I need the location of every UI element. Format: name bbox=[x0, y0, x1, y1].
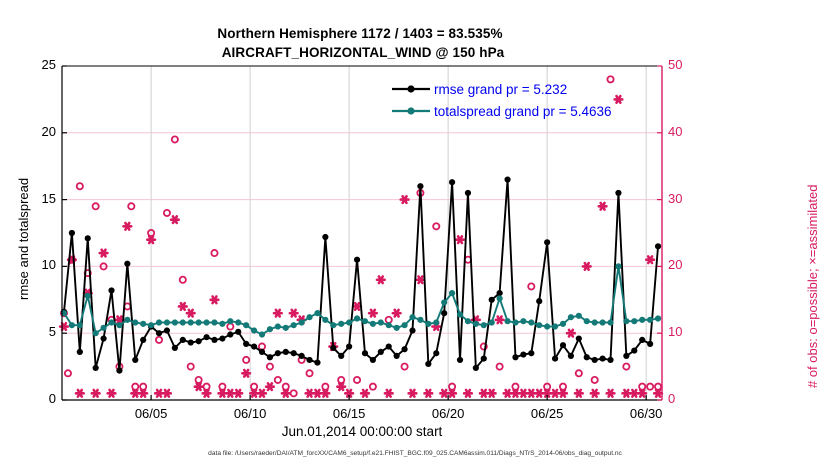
obs-assimilated-marker bbox=[456, 236, 464, 243]
obs-assimilated-marker bbox=[369, 310, 377, 317]
series-point-rmse bbox=[497, 290, 503, 296]
obs-assimilated-marker bbox=[124, 223, 132, 230]
series-point-rmse bbox=[267, 354, 273, 360]
obs-assimilated-marker bbox=[322, 390, 330, 397]
series-point-rmse bbox=[607, 357, 613, 363]
series-point-totalspread bbox=[251, 327, 257, 333]
series-point-rmse bbox=[156, 330, 162, 336]
obs-assimilated-marker bbox=[155, 390, 163, 397]
series-point-rmse bbox=[203, 334, 209, 340]
series-point-totalspread bbox=[576, 313, 582, 319]
obs-assimilated-marker bbox=[290, 310, 298, 317]
obs-possible-marker bbox=[291, 390, 297, 396]
series-point-totalspread bbox=[243, 322, 249, 328]
obs-assimilated-marker bbox=[139, 390, 147, 397]
series-point-totalspread bbox=[77, 322, 83, 328]
obs-assimilated-marker bbox=[599, 203, 607, 210]
obs-possible-marker bbox=[623, 364, 629, 370]
series-point-rmse bbox=[108, 287, 114, 293]
series-point-totalspread bbox=[544, 323, 550, 329]
series-point-totalspread bbox=[520, 318, 526, 324]
ytick-label-left-15: 15 bbox=[16, 191, 56, 206]
series-point-rmse bbox=[172, 345, 178, 351]
series-point-rmse bbox=[481, 355, 487, 361]
ytick-label-left-10: 10 bbox=[16, 257, 56, 272]
series-point-rmse bbox=[259, 349, 265, 355]
obs-assimilated-marker bbox=[559, 390, 567, 397]
series-point-totalspread bbox=[465, 318, 471, 324]
obs-possible-marker bbox=[647, 384, 653, 390]
series-point-totalspread bbox=[449, 290, 455, 296]
series-point-totalspread bbox=[116, 322, 122, 328]
series-point-totalspread bbox=[211, 319, 217, 325]
series-point-rmse bbox=[544, 239, 550, 245]
obs-assimilated-marker bbox=[401, 196, 409, 203]
series-point-totalspread bbox=[584, 318, 590, 324]
xtick-label-06-10: 06/10 bbox=[220, 406, 280, 421]
xtick-label-06-20: 06/20 bbox=[418, 406, 478, 421]
series-point-rmse bbox=[599, 355, 605, 361]
obs-possible-marker bbox=[354, 377, 360, 383]
series-point-totalspread bbox=[417, 317, 423, 323]
series-point-rmse bbox=[528, 350, 534, 356]
xtick-label-06-25: 06/25 bbox=[517, 406, 577, 421]
legend-label-rmse: rmse grand pr = 5.232 bbox=[434, 82, 567, 97]
series-point-totalspread bbox=[536, 322, 542, 328]
obs-assimilated-marker bbox=[496, 317, 504, 324]
series-point-rmse bbox=[512, 354, 518, 360]
obs-assimilated-marker bbox=[448, 390, 456, 397]
series-point-rmse bbox=[394, 353, 400, 359]
series-point-totalspread bbox=[599, 319, 605, 325]
series-point-rmse bbox=[116, 368, 122, 374]
series-point-rmse bbox=[354, 257, 360, 263]
obs-assimilated-marker bbox=[361, 390, 369, 397]
series-point-totalspread bbox=[354, 315, 360, 321]
series-point-totalspread bbox=[457, 311, 463, 317]
series-point-rmse bbox=[362, 350, 368, 356]
series-point-totalspread bbox=[401, 322, 407, 328]
series-point-rmse bbox=[164, 327, 170, 333]
obs-possible-marker bbox=[370, 384, 376, 390]
obs-assimilated-marker bbox=[108, 390, 116, 397]
obs-assimilated-marker bbox=[187, 310, 195, 317]
series-point-rmse bbox=[504, 176, 510, 182]
series-point-rmse bbox=[568, 353, 574, 359]
series-point-rmse bbox=[100, 335, 106, 341]
obs-possible-marker bbox=[267, 364, 273, 370]
obs-assimilated-marker bbox=[646, 256, 654, 263]
series-point-rmse bbox=[243, 341, 249, 347]
obs-assimilated-marker bbox=[147, 236, 155, 243]
series-point-rmse bbox=[370, 357, 376, 363]
series-point-totalspread bbox=[299, 319, 305, 325]
obs-assimilated-marker bbox=[211, 297, 219, 304]
obs-assimilated-marker bbox=[242, 370, 250, 377]
series-point-rmse bbox=[592, 357, 598, 363]
series-point-rmse bbox=[314, 359, 320, 365]
series-point-rmse bbox=[219, 335, 225, 341]
obs-assimilated-marker bbox=[100, 250, 108, 257]
series-point-totalspread bbox=[370, 321, 376, 327]
obs-possible-marker bbox=[497, 364, 503, 370]
obs-assimilated-marker bbox=[393, 310, 401, 317]
obs-assimilated-marker bbox=[179, 303, 187, 310]
obs-assimilated-marker bbox=[512, 390, 520, 397]
obs-assimilated-marker bbox=[551, 390, 559, 397]
obs-assimilated-marker bbox=[171, 216, 179, 223]
series-point-totalspread bbox=[362, 318, 368, 324]
obs-assimilated-marker bbox=[591, 390, 599, 397]
series-point-rmse bbox=[275, 350, 281, 356]
series-point-totalspread bbox=[631, 318, 637, 324]
series-point-totalspread bbox=[623, 318, 629, 324]
series-point-totalspread bbox=[140, 321, 146, 327]
series-point-rmse bbox=[211, 337, 217, 343]
obs-assimilated-marker bbox=[258, 390, 266, 397]
series-point-rmse bbox=[623, 353, 629, 359]
series-point-rmse bbox=[386, 343, 392, 349]
series-point-rmse bbox=[473, 365, 479, 371]
series-point-totalspread bbox=[386, 322, 392, 328]
series-point-rmse bbox=[77, 349, 83, 355]
series-point-rmse bbox=[124, 261, 130, 267]
obs-assimilated-marker bbox=[504, 390, 512, 397]
obs-assimilated-marker bbox=[76, 390, 84, 397]
series-point-rmse bbox=[655, 243, 661, 249]
obs-assimilated-marker bbox=[583, 263, 591, 270]
legend-marker-totalspread-icon bbox=[390, 103, 432, 119]
series-point-rmse bbox=[188, 339, 194, 345]
obs-possible-marker bbox=[188, 364, 194, 370]
series-point-rmse bbox=[299, 353, 305, 359]
series-point-totalspread bbox=[647, 317, 653, 323]
obs-possible-marker bbox=[77, 183, 83, 189]
obs-assimilated-marker bbox=[306, 390, 314, 397]
series-point-totalspread bbox=[314, 310, 320, 316]
obs-possible-marker bbox=[576, 370, 582, 376]
series-point-totalspread bbox=[607, 319, 613, 325]
series-point-totalspread bbox=[552, 323, 558, 329]
ytick-label-right-30: 30 bbox=[668, 191, 682, 206]
series-point-rmse bbox=[489, 297, 495, 303]
series-point-rmse bbox=[457, 357, 463, 363]
series-point-rmse bbox=[291, 350, 297, 356]
series-point-totalspread bbox=[528, 319, 534, 325]
series-point-rmse bbox=[647, 341, 653, 347]
obs-possible-marker bbox=[401, 364, 407, 370]
obs-assimilated-marker bbox=[227, 390, 235, 397]
obs-assimilated-marker bbox=[353, 303, 361, 310]
xtick-label-06-30: 06/30 bbox=[616, 406, 676, 421]
legend-item-rmse[interactable]: rmse grand pr = 5.232 bbox=[390, 78, 658, 100]
plot-canvas bbox=[0, 0, 830, 470]
xtick-label-06-15: 06/15 bbox=[319, 406, 379, 421]
series-point-rmse bbox=[552, 355, 558, 361]
xtick-label-06-05: 06/05 bbox=[121, 406, 181, 421]
obs-possible-marker bbox=[164, 210, 170, 216]
series-point-totalspread bbox=[441, 299, 447, 305]
obs-assimilated-marker bbox=[234, 390, 242, 397]
obs-possible-marker bbox=[243, 357, 249, 363]
series-point-rmse bbox=[639, 337, 645, 343]
series-point-totalspread bbox=[196, 319, 202, 325]
obs-assimilated-marker bbox=[314, 390, 322, 397]
ytick-label-right-50: 50 bbox=[668, 57, 682, 72]
obs-possible-marker bbox=[306, 370, 312, 376]
series-point-rmse bbox=[631, 347, 637, 353]
series-point-rmse bbox=[251, 343, 257, 349]
series-point-totalspread bbox=[172, 319, 178, 325]
obs-possible-marker bbox=[592, 377, 598, 383]
series-point-rmse bbox=[69, 230, 75, 236]
series-point-totalspread bbox=[592, 319, 598, 325]
series-point-rmse bbox=[306, 357, 312, 363]
obs-assimilated-marker bbox=[60, 323, 68, 330]
obs-possible-marker bbox=[433, 223, 439, 229]
series-point-totalspread bbox=[497, 295, 503, 301]
series-point-totalspread bbox=[283, 325, 289, 331]
obs-possible-marker bbox=[259, 343, 265, 349]
obs-assimilated-marker bbox=[520, 390, 528, 397]
series-point-rmse bbox=[196, 338, 202, 344]
series-point-rmse bbox=[449, 179, 455, 185]
obs-assimilated-marker bbox=[250, 390, 258, 397]
series-point-totalspread bbox=[394, 325, 400, 331]
series-point-totalspread bbox=[148, 322, 154, 328]
series-point-totalspread bbox=[473, 321, 479, 327]
series-point-totalspread bbox=[568, 314, 574, 320]
obs-assimilated-marker bbox=[488, 390, 496, 397]
series-point-totalspread bbox=[322, 317, 328, 323]
obs-assimilated-marker bbox=[567, 330, 575, 337]
obs-possible-marker bbox=[93, 203, 99, 209]
series-point-totalspread bbox=[267, 326, 273, 332]
series-point-totalspread bbox=[108, 319, 114, 325]
obs-assimilated-marker bbox=[409, 390, 417, 397]
ytick-label-left-25: 25 bbox=[16, 57, 56, 72]
series-point-rmse bbox=[465, 190, 471, 196]
obs-assimilated-marker bbox=[195, 383, 203, 390]
obs-possible-marker bbox=[386, 317, 392, 323]
series-point-rmse bbox=[433, 350, 439, 356]
series-point-rmse bbox=[536, 298, 542, 304]
series-point-totalspread bbox=[180, 319, 186, 325]
series-point-rmse bbox=[330, 345, 336, 351]
series-point-totalspread bbox=[409, 314, 415, 320]
series-point-totalspread bbox=[93, 330, 99, 336]
obs-assimilated-marker bbox=[337, 383, 345, 390]
series-point-rmse bbox=[283, 349, 289, 355]
legend-item-totalspread[interactable]: totalspread grand pr = 5.4636 bbox=[390, 100, 658, 122]
series-point-rmse bbox=[576, 335, 582, 341]
series-point-rmse bbox=[140, 337, 146, 343]
series-point-totalspread bbox=[227, 318, 233, 324]
obs-possible-marker bbox=[227, 323, 233, 329]
series-point-totalspread bbox=[615, 263, 621, 269]
ytick-label-right-20: 20 bbox=[668, 257, 682, 272]
obs-assimilated-marker bbox=[425, 390, 433, 397]
ytick-label-right-0: 0 bbox=[668, 391, 675, 406]
series-point-rmse bbox=[93, 365, 99, 371]
series-point-rmse bbox=[417, 183, 423, 189]
obs-assimilated-marker bbox=[528, 390, 536, 397]
series-point-rmse bbox=[346, 343, 352, 349]
figure-root: Northern Hemisphere 1172 / 1403 = 83.535… bbox=[0, 0, 830, 470]
series-point-rmse bbox=[180, 337, 186, 343]
ytick-label-left-20: 20 bbox=[16, 124, 56, 139]
obs-assimilated-marker bbox=[92, 390, 100, 397]
series-point-rmse bbox=[132, 357, 138, 363]
series-point-totalspread bbox=[425, 321, 431, 327]
obs-assimilated-marker bbox=[535, 390, 543, 397]
obs-assimilated-marker bbox=[623, 390, 631, 397]
obs-assimilated-marker bbox=[654, 390, 662, 397]
series-point-totalspread bbox=[85, 293, 91, 299]
obs-possible-marker bbox=[275, 377, 281, 383]
series-point-totalspread bbox=[560, 321, 566, 327]
ytick-label-right-10: 10 bbox=[668, 324, 682, 339]
series-point-rmse bbox=[322, 234, 328, 240]
series-point-totalspread bbox=[203, 319, 209, 325]
series-point-totalspread bbox=[489, 319, 495, 325]
series-point-rmse bbox=[85, 235, 91, 241]
series-point-rmse bbox=[560, 342, 566, 348]
series-point-totalspread bbox=[69, 322, 75, 328]
series-point-totalspread bbox=[655, 315, 661, 321]
obs-assimilated-marker bbox=[480, 390, 488, 397]
series-point-rmse bbox=[409, 327, 415, 333]
obs-assimilated-marker bbox=[219, 390, 227, 397]
obs-assimilated-marker bbox=[274, 310, 282, 317]
obs-assimilated-marker bbox=[464, 390, 472, 397]
legend-marker-rmse-icon bbox=[390, 81, 432, 97]
series-point-totalspread bbox=[259, 331, 265, 337]
obs-assimilated-marker bbox=[163, 390, 171, 397]
obs-possible-marker bbox=[128, 203, 134, 209]
obs-assimilated-marker bbox=[417, 276, 425, 283]
series-point-totalspread bbox=[639, 317, 645, 323]
obs-assimilated-marker bbox=[440, 390, 448, 397]
series-point-totalspread bbox=[132, 319, 138, 325]
series-point-totalspread bbox=[346, 319, 352, 325]
series-point-rmse bbox=[401, 346, 407, 352]
series-point-totalspread bbox=[504, 318, 510, 324]
series-point-totalspread bbox=[512, 319, 518, 325]
series-point-rmse bbox=[425, 361, 431, 367]
series-point-totalspread bbox=[235, 319, 241, 325]
series-point-rmse bbox=[520, 351, 526, 357]
obs-possible-marker bbox=[172, 136, 178, 142]
series-point-totalspread bbox=[481, 322, 487, 328]
series-point-totalspread bbox=[219, 321, 225, 327]
obs-assimilated-marker bbox=[282, 390, 290, 397]
ytick-label-right-40: 40 bbox=[668, 124, 682, 139]
series-point-rmse bbox=[235, 329, 241, 335]
series-point-rmse bbox=[584, 354, 590, 360]
series-point-totalspread bbox=[291, 322, 297, 328]
series-point-totalspread bbox=[188, 319, 194, 325]
series-point-totalspread bbox=[338, 321, 344, 327]
series-point-totalspread bbox=[124, 317, 130, 323]
ytick-label-left-0: 0 bbox=[16, 391, 56, 406]
legend: rmse grand pr = 5.232 totalspread grand … bbox=[390, 76, 658, 124]
obs-assimilated-marker bbox=[607, 390, 615, 397]
obs-assimilated-marker bbox=[131, 390, 139, 397]
obs-assimilated-marker bbox=[377, 276, 385, 283]
obs-possible-marker bbox=[211, 250, 217, 256]
obs-possible-marker bbox=[156, 337, 162, 343]
obs-assimilated-marker bbox=[575, 390, 583, 397]
series-line-rmse bbox=[64, 180, 658, 371]
series-point-rmse bbox=[615, 190, 621, 196]
obs-assimilated-marker bbox=[630, 390, 638, 397]
series-point-totalspread bbox=[433, 319, 439, 325]
series-point-totalspread bbox=[100, 325, 106, 331]
series-point-rmse bbox=[441, 310, 447, 316]
ytick-label-left-5: 5 bbox=[16, 324, 56, 339]
series-point-rmse bbox=[378, 349, 384, 355]
obs-assimilated-marker bbox=[638, 390, 646, 397]
series-point-rmse bbox=[338, 353, 344, 359]
series-point-totalspread bbox=[275, 323, 281, 329]
series-point-totalspread bbox=[164, 319, 170, 325]
obs-assimilated-marker bbox=[266, 383, 274, 390]
obs-assimilated-marker bbox=[385, 390, 393, 397]
obs-possible-marker bbox=[528, 283, 534, 289]
series-point-totalspread bbox=[156, 319, 162, 325]
legend-label-totalspread: totalspread grand pr = 5.4636 bbox=[434, 104, 612, 119]
series-point-rmse bbox=[227, 331, 233, 337]
series-point-totalspread bbox=[378, 319, 384, 325]
obs-assimilated-marker bbox=[203, 390, 211, 397]
obs-possible-marker bbox=[180, 277, 186, 283]
series-point-totalspread bbox=[330, 322, 336, 328]
obs-possible-marker bbox=[65, 370, 71, 376]
series-point-totalspread bbox=[306, 314, 312, 320]
